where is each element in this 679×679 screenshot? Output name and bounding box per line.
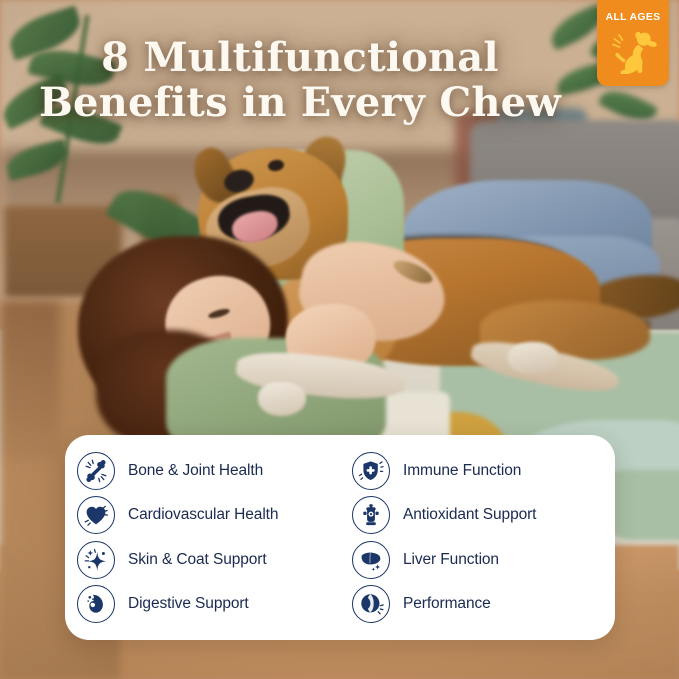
benefit-performance[interactable]: Performance	[352, 582, 611, 626]
headline-line-1: 8 Multifunctional	[101, 34, 499, 81]
benefit-label: Bone & Joint Health	[128, 462, 263, 480]
ball-toy-icon	[352, 585, 390, 623]
benefit-label: Antioxidant Support	[403, 506, 536, 524]
heart-icon	[77, 496, 115, 534]
fire-hydrant-icon	[352, 496, 390, 534]
benefit-liver-function[interactable]: Liver Function	[352, 538, 611, 582]
benefit-label: Digestive Support	[128, 595, 249, 613]
stomach-icon	[77, 585, 115, 623]
headline-line-2: Benefits in Every Chew	[16, 81, 584, 126]
benefit-label: Immune Function	[403, 462, 521, 480]
benefit-label: Skin & Coat Support	[128, 551, 267, 569]
page-title: 8 Multifunctional Benefits in Every Chew	[0, 36, 600, 126]
sitting-dog-silhouette-icon	[608, 26, 658, 79]
benefit-label: Cardiovascular Health	[128, 506, 278, 524]
benefit-antioxidant-support[interactable]: Antioxidant Support	[352, 493, 611, 537]
all-ages-badge-label: ALL AGES	[606, 11, 661, 23]
bone-icon	[77, 452, 115, 490]
all-ages-badge: ALL AGES	[597, 0, 669, 86]
benefit-digestive-support[interactable]: Digestive Support	[77, 582, 352, 626]
benefit-cardiovascular-health[interactable]: Cardiovascular Health	[77, 493, 352, 537]
benefit-label: Performance	[403, 595, 491, 613]
dog-paw-front	[258, 382, 306, 416]
benefit-label: Liver Function	[403, 551, 499, 569]
benefit-skin-coat-support[interactable]: Skin & Coat Support	[77, 538, 352, 582]
product-benefits-poster: 8 Multifunctional Benefits in Every Chew…	[0, 0, 679, 679]
benefit-immune-function[interactable]: Immune Function	[352, 449, 611, 493]
benefits-column-left: Bone & Joint Health Car	[77, 449, 352, 626]
liver-icon	[352, 541, 390, 579]
benefits-card: Bone & Joint Health Car	[65, 435, 615, 640]
shield-plus-icon	[352, 452, 390, 490]
sparkle-icon	[77, 541, 115, 579]
dog-paw-far	[508, 342, 558, 374]
benefits-column-right: Immune Function	[352, 449, 611, 626]
benefit-bone-joint-health[interactable]: Bone & Joint Health	[77, 449, 352, 493]
